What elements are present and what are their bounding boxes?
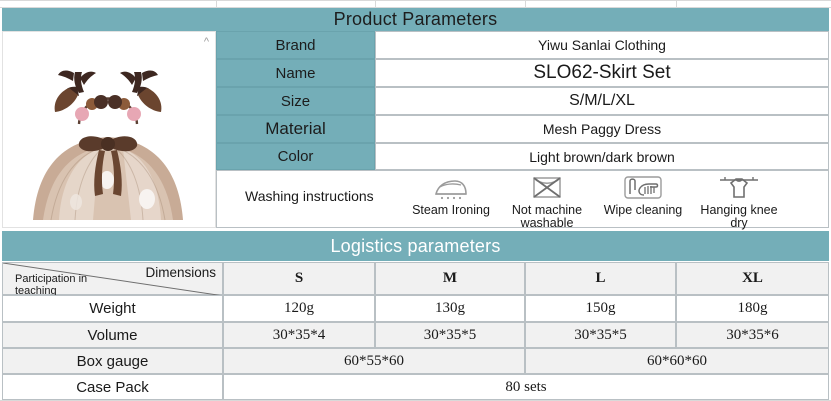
care-item-steam-ironing: Steam Ironing [403,175,499,217]
logistics-size-header-l: L [525,262,676,295]
param-label-color: Color [216,143,375,170]
param-value-size: S/M/L/XL [375,87,829,115]
logistics-row-label-case-pack: Case Pack [2,374,223,400]
product-image[interactable]: ^ [2,31,216,228]
logistics-cell-volume-s: 30*35*4 [223,322,375,348]
wipe-cleaning-icon [595,175,691,201]
logistics-cell-volume-l: 30*35*5 [525,322,676,348]
logistics-parameters-title: Logistics parameters [330,236,500,257]
care-item-not-machine-washable: Not machine washable [499,175,595,230]
product-parameters-title: Product Parameters [334,9,498,30]
care-label-hanging-knee-dry: Hanging knee dry [696,204,782,230]
logistics-cell-weight-s: 120g [223,295,375,322]
param-value-brand: Yiwu Sanlai Clothing [375,31,829,59]
logistics-corner-header: Dimensions Participation in teaching [2,262,223,295]
logistics-size-header-xl: XL [676,262,829,295]
param-label-brand: Brand [216,31,375,59]
steam-iron-icon [403,175,499,201]
logistics-row-label-box-gauge: Box gauge [2,348,223,374]
param-label-name: Name [216,59,375,87]
care-label-wipe-cleaning: Wipe cleaning [595,204,691,217]
corner-label-participation: Participation in teaching [15,274,111,297]
washing-instructions-title: Washing instructions [245,188,374,204]
param-label-material: Material [216,115,375,143]
logistics-cell-weight-l: 150g [525,295,676,322]
spreadsheet-canvas: Product Parameters [0,0,831,401]
logistics-cell-box-gauge-sm: 60*55*60 [223,348,525,374]
product-illustration [3,32,215,227]
product-parameters-banner: Product Parameters [2,8,829,31]
param-value-name: SLO62-Skirt Set [375,59,829,87]
logistics-size-header-s: S [223,262,375,295]
care-item-hanging-knee-dry: Hanging knee dry [691,175,787,230]
top-gridline-strip [0,0,831,8]
logistics-cell-volume-m: 30*35*5 [375,322,525,348]
logistics-row-label-volume: Volume [2,322,223,348]
logistics-cell-volume-xl: 30*35*6 [676,322,829,348]
care-item-wipe-cleaning: Wipe cleaning [595,175,691,217]
logistics-cell-case-pack-all: 80 sets [223,374,829,400]
expand-caret-icon[interactable]: ^ [204,36,209,48]
logistics-cell-box-gauge-lxl: 60*60*60 [525,348,829,374]
no-machine-wash-icon [499,175,595,201]
param-value-material: Mesh Paggy Dress [375,115,829,143]
logistics-parameters-banner: Logistics parameters [2,231,829,261]
param-value-color: Light brown/dark brown [375,143,829,170]
care-label-steam-ironing: Steam Ironing [403,204,499,217]
logistics-row-label-weight: Weight [2,295,223,322]
corner-label-dimensions: Dimensions [145,265,216,280]
washing-instructions-row: Washing instructions Steam Ironing [216,170,829,228]
logistics-cell-weight-m: 130g [375,295,525,322]
logistics-size-header-m: M [375,262,525,295]
hang-dry-icon [691,175,787,201]
logistics-cell-weight-xl: 180g [676,295,829,322]
param-label-size: Size [216,87,375,115]
care-label-not-machine-washable: Not machine washable [504,204,590,230]
